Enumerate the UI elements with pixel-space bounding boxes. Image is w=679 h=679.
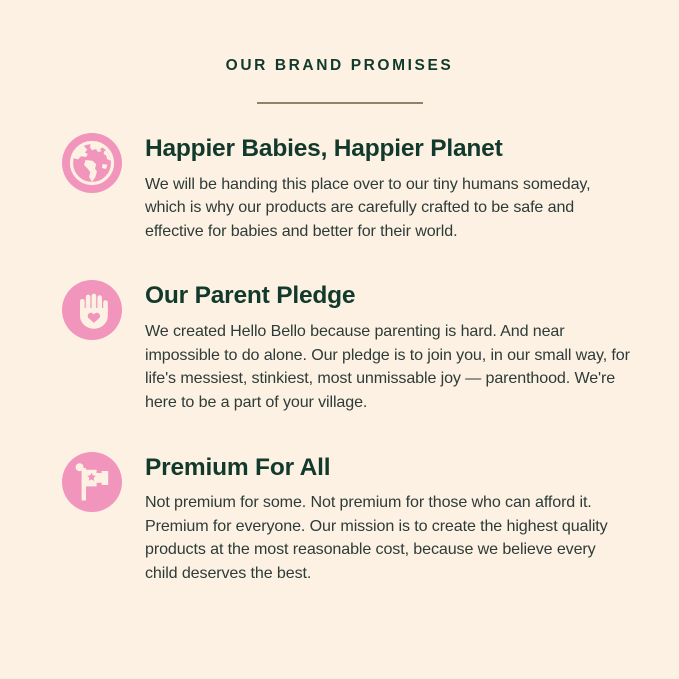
promise-heading: Our Parent Pledge: [145, 280, 631, 309]
flag-star-icon: [62, 452, 122, 512]
promises-list: Happier Babies, Happier Planet We will b…: [0, 133, 679, 586]
promise-heading: Happier Babies, Happier Planet: [145, 133, 631, 162]
promise-item-our-parent-pledge: Our Parent Pledge We created Hello Bello…: [62, 280, 631, 414]
promise-body: We created Hello Bello because parenting…: [145, 320, 631, 415]
page-header: OUR BRAND PROMISES: [0, 0, 679, 104]
hand-heart-icon: [62, 280, 122, 340]
promise-body: We will be handing this place over to ou…: [145, 173, 631, 244]
promise-heading: Premium For All: [145, 452, 631, 481]
promise-body: Not premium for some. Not premium for th…: [145, 491, 631, 586]
page-title: OUR BRAND PROMISES: [0, 57, 679, 74]
title-divider: [257, 102, 423, 104]
promise-item-premium-for-all: Premium For All Not premium for some. No…: [62, 452, 631, 586]
brand-promises-page: OUR BRAND PROMISES Happier Babies, Happi…: [0, 0, 679, 679]
promise-item-happier-babies-happier-planet: Happier Babies, Happier Planet We will b…: [62, 133, 631, 243]
globe-icon: [62, 133, 122, 193]
